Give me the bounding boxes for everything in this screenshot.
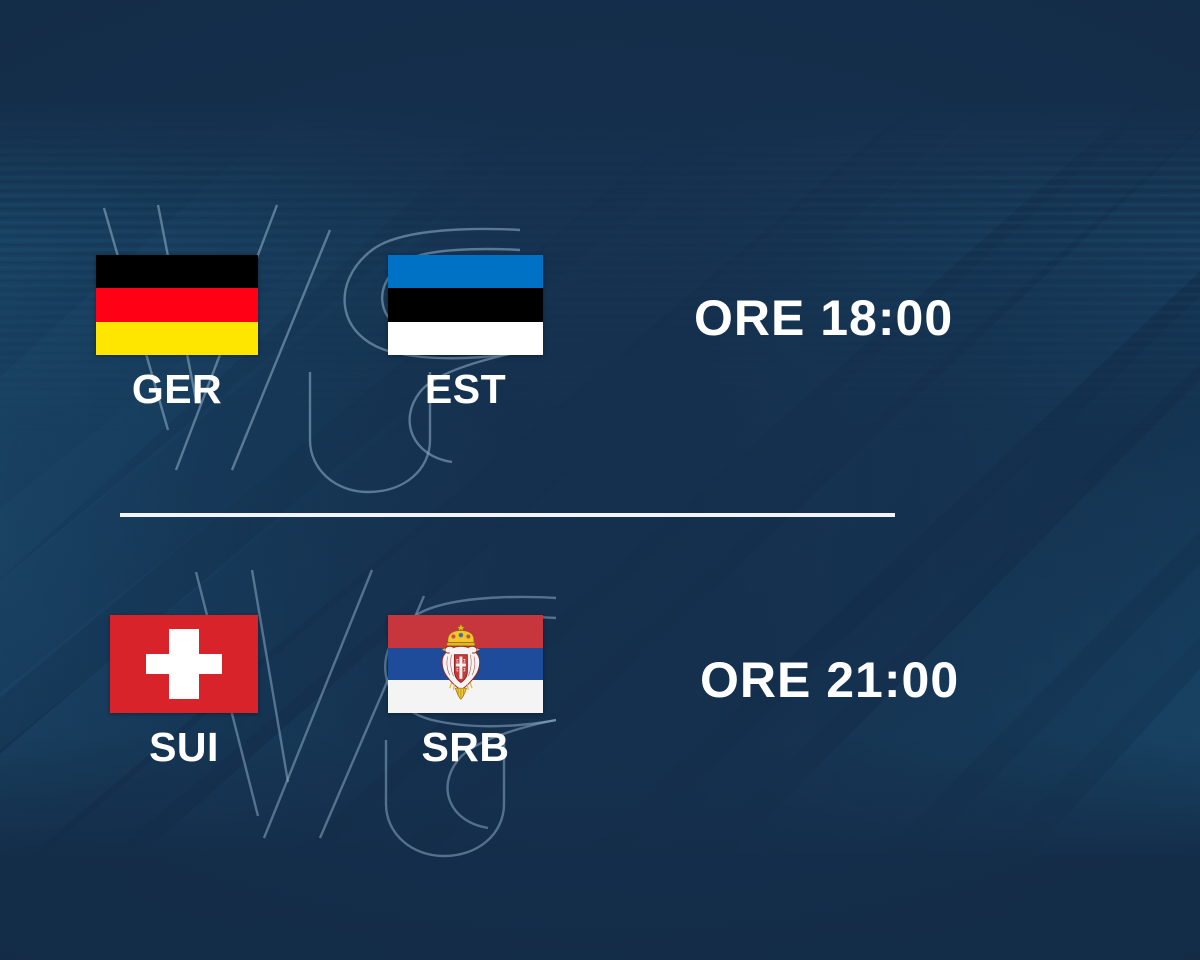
flag-stripe-white (388, 322, 543, 355)
team-code: EST (388, 369, 543, 410)
flag-stripe-black (96, 255, 258, 288)
team-code: GER (96, 369, 258, 410)
flag-stripe-gold (96, 322, 258, 355)
match-row[interactable]: GER EST ORE 18:00 (0, 255, 1200, 485)
team-code: SUI (110, 727, 258, 768)
fixture-content: GER EST ORE 18:00 (0, 0, 1200, 960)
fixture-graphic: GER EST ORE 18:00 (0, 0, 1200, 960)
flag-cross-horizontal (146, 654, 223, 674)
switzerland-flag (110, 615, 258, 713)
flag-stripe-black (388, 288, 543, 321)
estonia-flag (388, 255, 543, 355)
flag-stripe-red (96, 288, 258, 321)
team-home[interactable]: SUI (110, 615, 258, 768)
kickoff-time: ORE 21:00 (700, 655, 959, 705)
serbia-flag (388, 615, 543, 713)
section-divider (120, 513, 895, 517)
kickoff-time: ORE 18:00 (694, 293, 953, 343)
team-code: SRB (388, 727, 543, 768)
team-home[interactable]: GER (96, 255, 258, 410)
match-row[interactable]: SUI (0, 615, 1200, 845)
flag-stripe-blue (388, 255, 543, 288)
team-away[interactable]: EST (388, 255, 543, 410)
serbia-coat-of-arms-icon (433, 621, 489, 701)
team-away[interactable]: SRB (388, 615, 543, 768)
germany-flag (96, 255, 258, 355)
